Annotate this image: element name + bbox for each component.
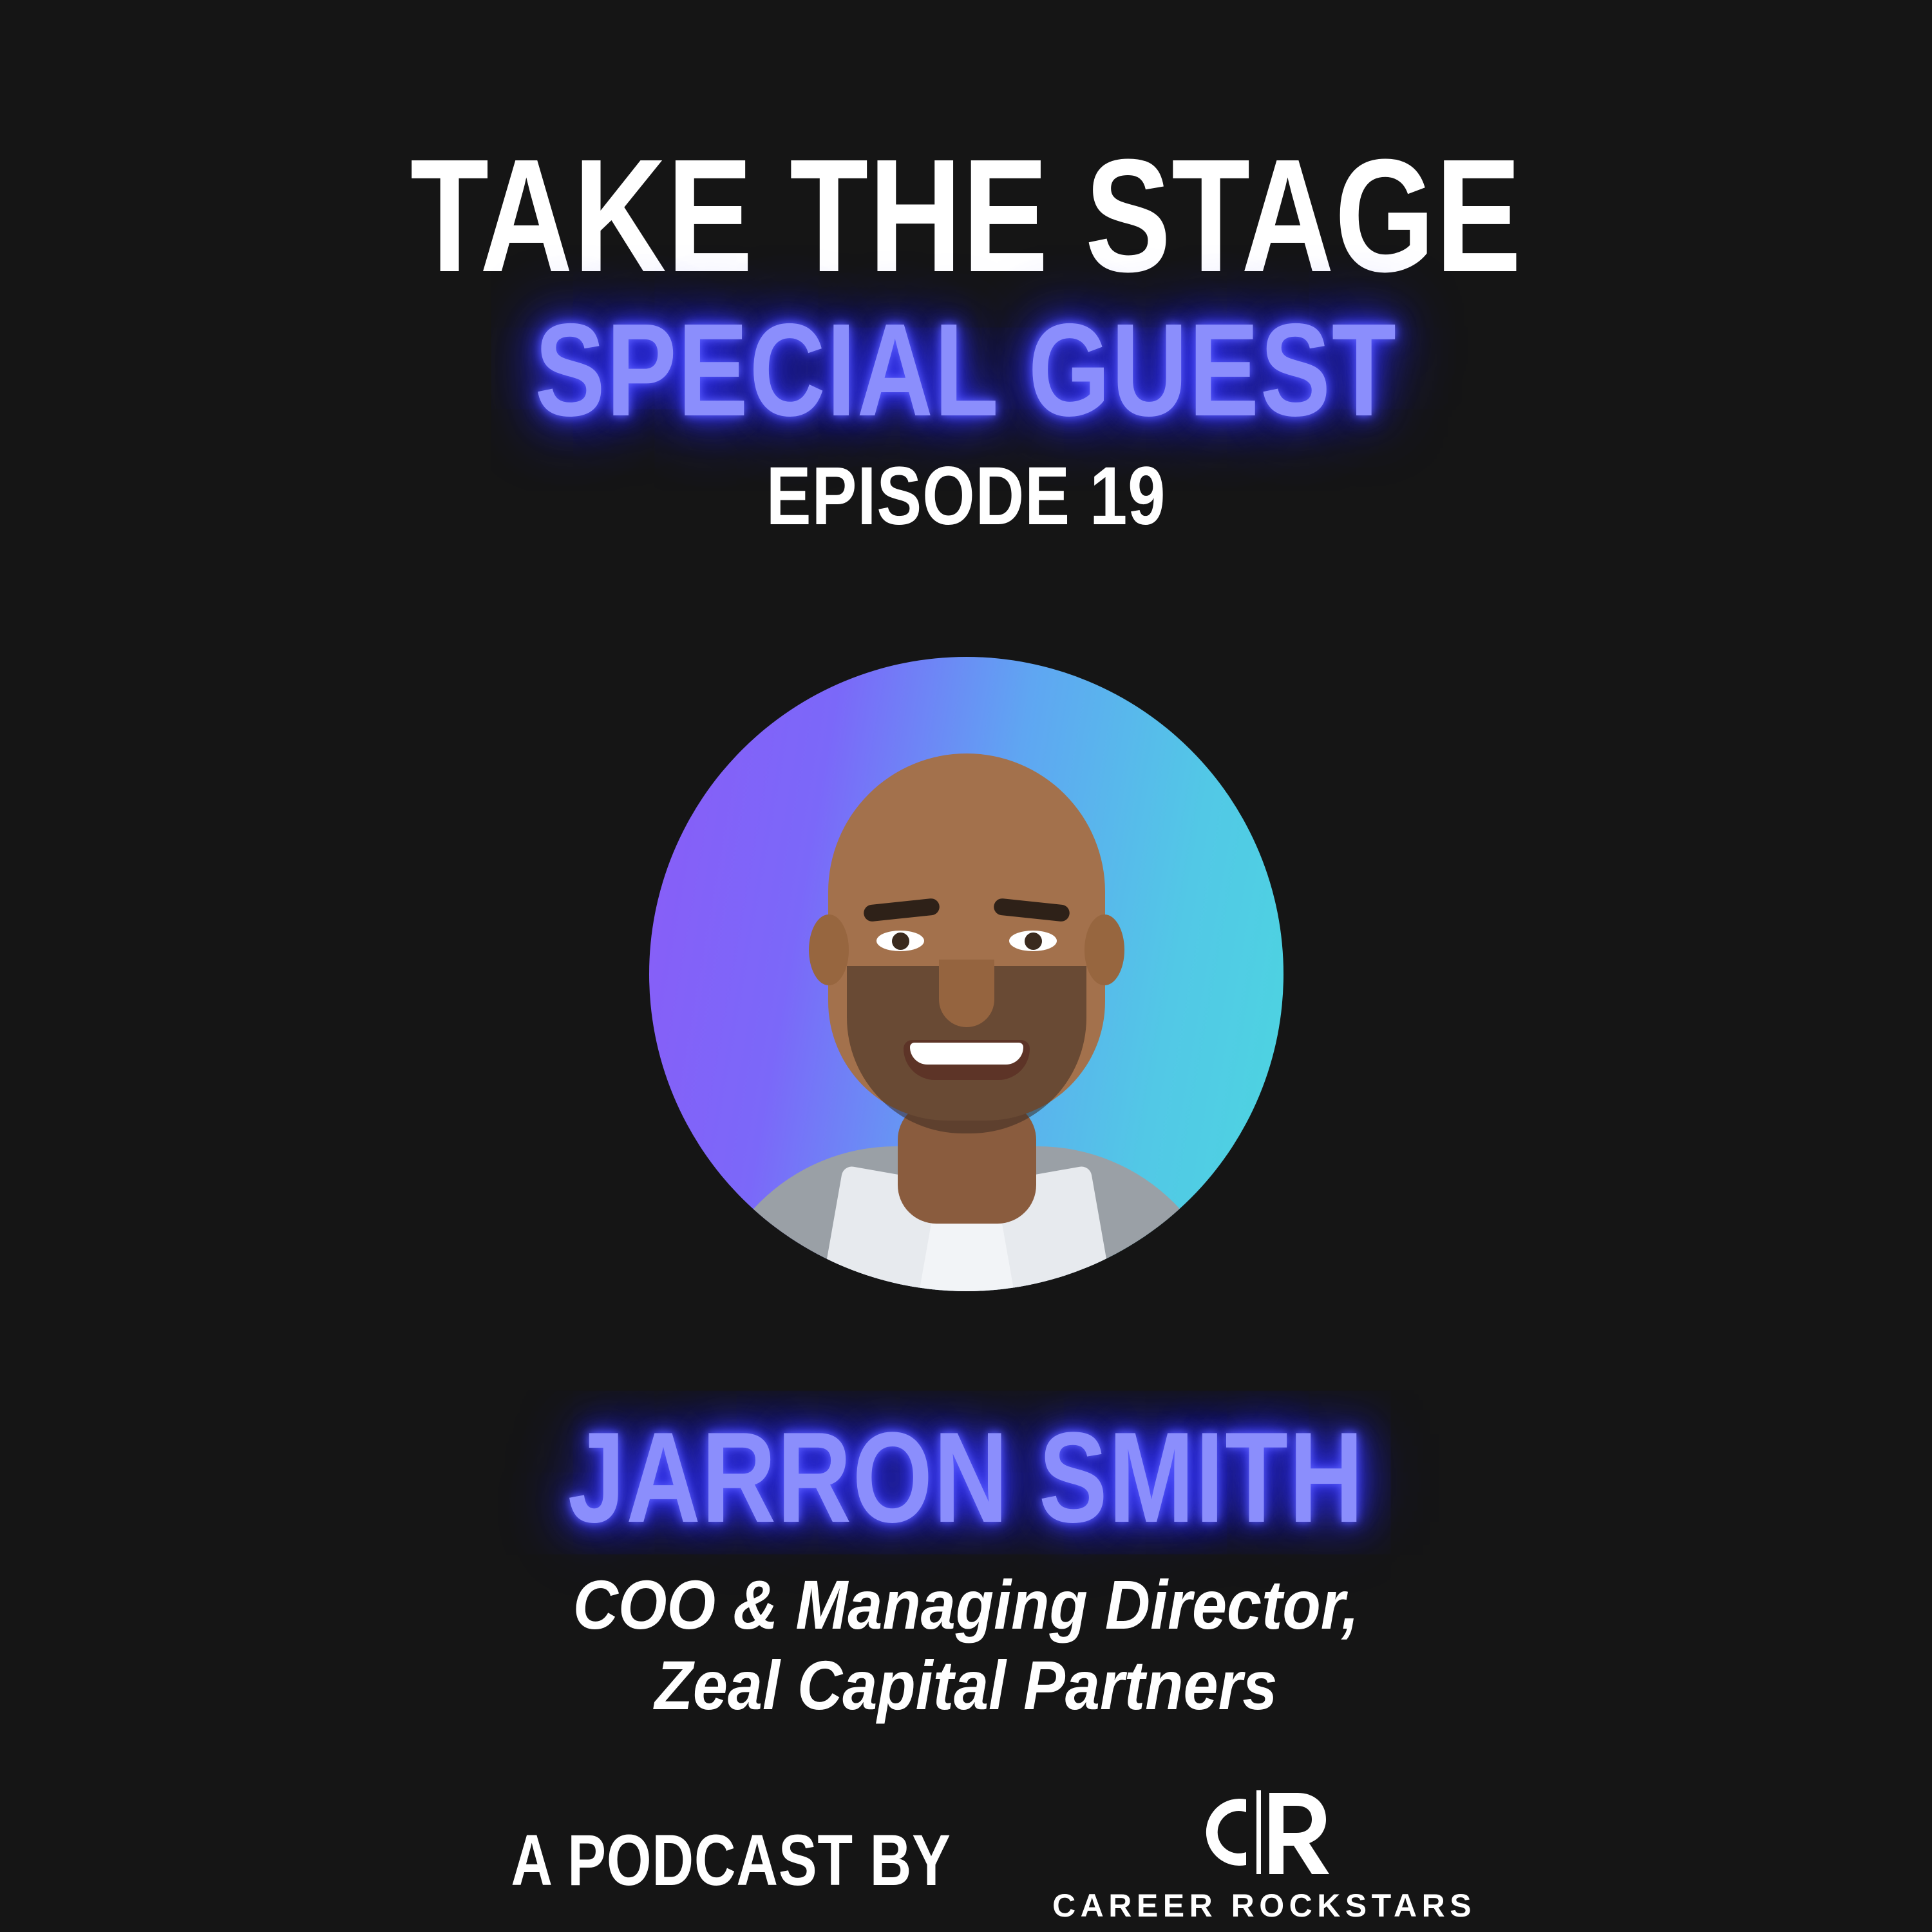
guest-role-line-1: COO & Managing Director, bbox=[97, 1564, 1835, 1645]
guest-role-line-2: Zeal Capital Partners bbox=[97, 1645, 1835, 1725]
portrait-eye-right bbox=[1009, 931, 1057, 951]
guest-role: COO & Managing Director, Zeal Capital Pa… bbox=[0, 1564, 1932, 1726]
podcast-credit-label: A PODCAST BY bbox=[511, 1824, 951, 1897]
guest-identity-block: JARRON SMITH COO & Managing Director, Ze… bbox=[0, 1414, 1932, 1726]
portrait-mouth bbox=[904, 1040, 1030, 1080]
portrait-nose bbox=[939, 960, 994, 1027]
portrait-pupil-right bbox=[1025, 933, 1042, 950]
footer: A PODCAST BY CAREER ROCKSTARS bbox=[0, 1797, 1932, 1924]
portrait-ear-right bbox=[1084, 914, 1124, 985]
show-title: TAKE THE STAGE bbox=[193, 135, 1739, 296]
portrait-pupil-left bbox=[892, 933, 909, 950]
portrait-ear-left bbox=[809, 914, 849, 985]
guest-portrait bbox=[649, 657, 1283, 1291]
header-block: TAKE THE STAGE SPECIAL GUEST EPISODE 19 bbox=[0, 135, 1932, 538]
career-rockstars-logo: CAREER ROCKSTARS bbox=[1052, 1784, 1476, 1924]
segment-label-wrap: SPECIAL GUEST bbox=[0, 304, 1932, 436]
segment-label: SPECIAL GUEST bbox=[535, 304, 1397, 436]
podcast-episode-card: TAKE THE STAGE SPECIAL GUEST EPISODE 19 … bbox=[0, 0, 1932, 1932]
portrait-teeth bbox=[910, 1043, 1023, 1065]
episode-label: EPISODE 19 bbox=[174, 455, 1758, 538]
brand-wordmark: CAREER ROCKSTARS bbox=[1052, 1887, 1476, 1924]
cr-monogram-icon bbox=[1187, 1784, 1341, 1880]
guest-name: JARRON SMITH bbox=[567, 1414, 1364, 1542]
portrait-eye-left bbox=[876, 931, 924, 951]
